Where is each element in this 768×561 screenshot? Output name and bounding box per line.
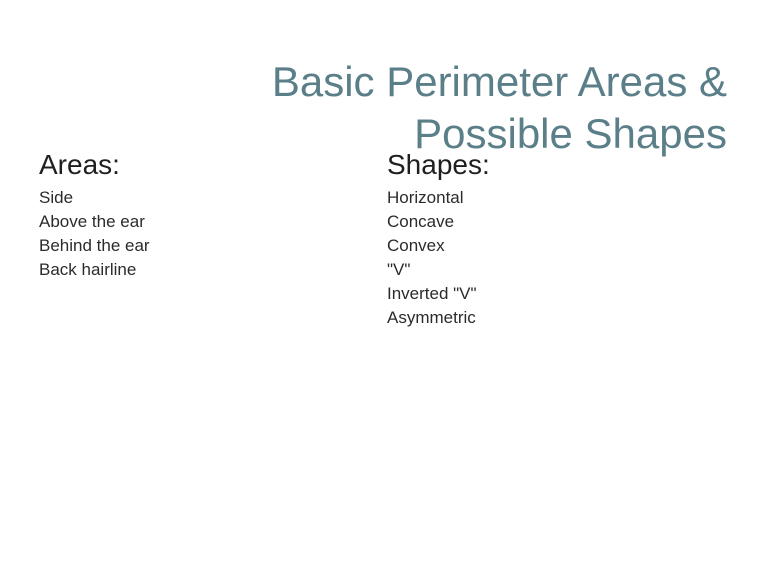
column-heading-shapes: Shapes:	[387, 148, 727, 182]
list-item: Convex	[387, 234, 727, 258]
column-areas: Areas: Side Above the ear Behind the ear…	[39, 148, 369, 282]
list-item: Concave	[387, 210, 727, 234]
column-heading-areas: Areas:	[39, 148, 369, 182]
slide-title: Basic Perimeter Areas & Possible Shapes	[40, 56, 727, 160]
list-item: Behind the ear	[39, 234, 369, 258]
list-item: Inverted "V"	[387, 282, 727, 306]
list-item: Back hairline	[39, 258, 369, 282]
shapes-list: Horizontal Concave Convex "V" Inverted "…	[387, 186, 727, 330]
list-item: Side	[39, 186, 369, 210]
column-shapes: Shapes: Horizontal Concave Convex "V" In…	[387, 148, 727, 330]
list-item: Above the ear	[39, 210, 369, 234]
presentation-slide: Basic Perimeter Areas & Possible Shapes …	[0, 0, 768, 561]
list-item: Asymmetric	[387, 306, 727, 330]
areas-list: Side Above the ear Behind the ear Back h…	[39, 186, 369, 282]
list-item: Horizontal	[387, 186, 727, 210]
list-item: "V"	[387, 258, 727, 282]
